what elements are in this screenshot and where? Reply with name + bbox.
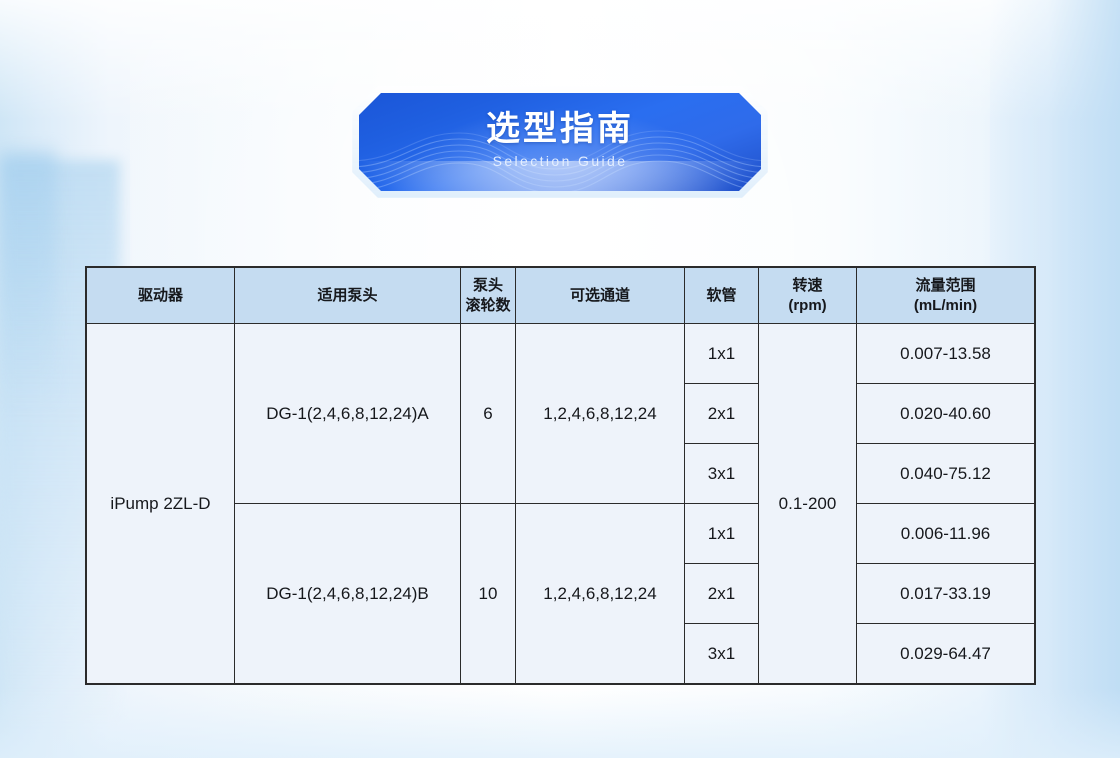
header-channels: 可选通道 [516, 268, 685, 324]
cell-flow: 0.017-33.19 [857, 564, 1035, 624]
cell-channels: 1,2,4,6,8,12,24 [516, 324, 685, 504]
cell-driver: iPump 2ZL-D [87, 324, 235, 684]
header-speed-line2: (rpm) [763, 296, 852, 316]
background-bottom-band [0, 688, 1120, 758]
cell-flow: 0.040-75.12 [857, 444, 1035, 504]
cell-hose: 3x1 [685, 624, 759, 684]
header-flow-range-line2: (mL/min) [861, 296, 1030, 316]
cell-flow: 0.006-11.96 [857, 504, 1035, 564]
cell-hose: 1x1 [685, 504, 759, 564]
cell-pump-head: DG-1(2,4,6,8,12,24)A [235, 324, 461, 504]
cell-flow: 0.020-40.60 [857, 384, 1035, 444]
header-roller-count-line2: 滚轮数 [465, 296, 511, 316]
table-header-row: 驱动器 适用泵头 泵头 滚轮数 可选通道 软管 转速 (rpm) 流量范围 (m… [87, 268, 1035, 324]
cell-hose: 2x1 [685, 564, 759, 624]
header-hose: 软管 [685, 268, 759, 324]
header-driver: 驱动器 [87, 268, 235, 324]
cell-speed: 0.1-200 [759, 324, 857, 684]
cell-channels: 1,2,4,6,8,12,24 [516, 504, 685, 684]
header-roller-count-line1: 泵头 [465, 276, 511, 296]
header-pump-head: 适用泵头 [235, 268, 461, 324]
header-speed-line1: 转速 [763, 276, 852, 296]
cell-pump-head: DG-1(2,4,6,8,12,24)B [235, 504, 461, 684]
header-speed: 转速 (rpm) [759, 268, 857, 324]
selection-spec-table: 驱动器 适用泵头 泵头 滚轮数 可选通道 软管 转速 (rpm) 流量范围 (m… [86, 267, 1035, 684]
banner-subtitle: Selection Guide [359, 151, 761, 171]
cell-flow: 0.007-13.58 [857, 324, 1035, 384]
cell-hose: 1x1 [685, 324, 759, 384]
header-flow-range-line1: 流量范围 [861, 276, 1030, 296]
header-roller-count: 泵头 滚轮数 [461, 268, 516, 324]
header-flow-range: 流量范围 (mL/min) [857, 268, 1035, 324]
cell-rollers: 6 [461, 324, 516, 504]
cell-flow: 0.029-64.47 [857, 624, 1035, 684]
cell-hose: 2x1 [685, 384, 759, 444]
cell-rollers: 10 [461, 504, 516, 684]
banner-body: 选型指南 Selection Guide [359, 93, 761, 191]
background-left-accent [0, 150, 56, 400]
selection-guide-banner: 选型指南 Selection Guide [352, 86, 768, 198]
banner-title: 选型指南 [359, 109, 761, 149]
cell-hose: 3x1 [685, 444, 759, 504]
table-row: iPump 2ZL-D DG-1(2,4,6,8,12,24)A 6 1,2,4… [87, 324, 1035, 384]
